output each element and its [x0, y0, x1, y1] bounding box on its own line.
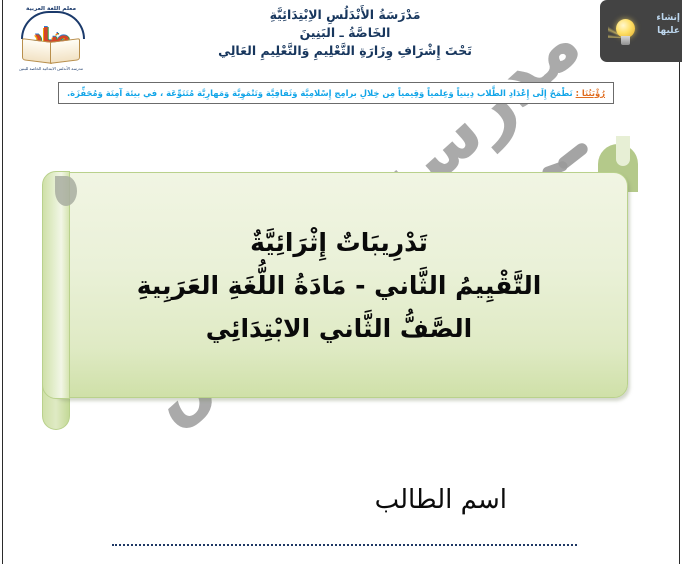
- title-ribbon: تَدْرِيبَاتٌ إِثْرَائِيَّةٌ التَّقْيِيمُ…: [50, 172, 628, 398]
- vision-label: رُؤْيَتُنَا :: [576, 88, 605, 98]
- vision-statement-text: نَطْمَحُ إِلَى إِعْدَادِ الطَّلاب دِينيا…: [67, 88, 573, 98]
- vision-text-row: رُؤْيَتُنَا : نَطْمَحُ إِلَى إِعْدَادِ ا…: [67, 88, 605, 98]
- ministry-line: تَحْتَ إِشْرَافِ وِزَارَةِ التَّعْلِيمِ …: [120, 42, 570, 60]
- document-header: معلم اللغة العربية ضاد مدرسة الأندلس الا…: [0, 0, 682, 78]
- open-book-icon: [22, 40, 80, 62]
- school-name-line: مَدْرَسَةُ الأَنْدَلُسِ الاِبْتِدَائِيَّ…: [120, 6, 570, 24]
- worksheet-title-line-1: تَدْرِيبَاتٌ إِثْرَائِيَّةٌ: [250, 228, 428, 257]
- worksheet-title-line-3: الصَّفُّ الثَّاني الابْتِدَائِي: [206, 314, 472, 343]
- tip-line-2: عليها: [636, 25, 680, 38]
- school-title-block: مَدْرَسَةُ الأَنْدَلُسِ الاِبْتِدَائِيَّ…: [120, 6, 570, 59]
- worksheet-title-line-2: التَّقْيِيمُ الثَّاني - مَادَةُ اللُّغَة…: [137, 271, 542, 300]
- document-page: مدرسة الأندلس معلم اللغة العربية ضاد مدر…: [0, 0, 682, 564]
- student-name-label: اسم الطالب: [375, 485, 507, 515]
- school-logo-icon: معلم اللغة العربية ضاد مدرسة الأندلس الا…: [12, 2, 90, 72]
- tip-popup[interactable]: إنشاء عليها: [600, 0, 682, 62]
- bulb-base: [621, 36, 630, 45]
- book-page-left: [22, 38, 52, 64]
- logo-arc-label: معلم اللغة العربية: [10, 6, 92, 12]
- tip-popup-text: إنشاء عليها: [636, 12, 680, 38]
- vision-banner: رُؤْيَتُنَا : نَطْمَحُ إِلَى إِعْدَادِ ا…: [58, 82, 614, 104]
- page-border-right: [679, 0, 680, 564]
- page-border-left: [2, 0, 3, 564]
- logo-caption: مدرسة الأندلس الابتدائية الخاصة للبنين: [12, 66, 90, 71]
- ribbon-curl-right-notch: [616, 136, 630, 166]
- school-type-line: الخَاصَّةُ ـ البَنِينَ: [120, 24, 570, 42]
- tip-line-1: إنشاء: [636, 12, 680, 25]
- student-name-input-line[interactable]: [112, 544, 577, 546]
- ribbon-title-text: تَدْرِيبَاتٌ إِثْرَائِيَّةٌ التَّقْيِيمُ…: [50, 172, 628, 398]
- book-page-right: [50, 38, 80, 64]
